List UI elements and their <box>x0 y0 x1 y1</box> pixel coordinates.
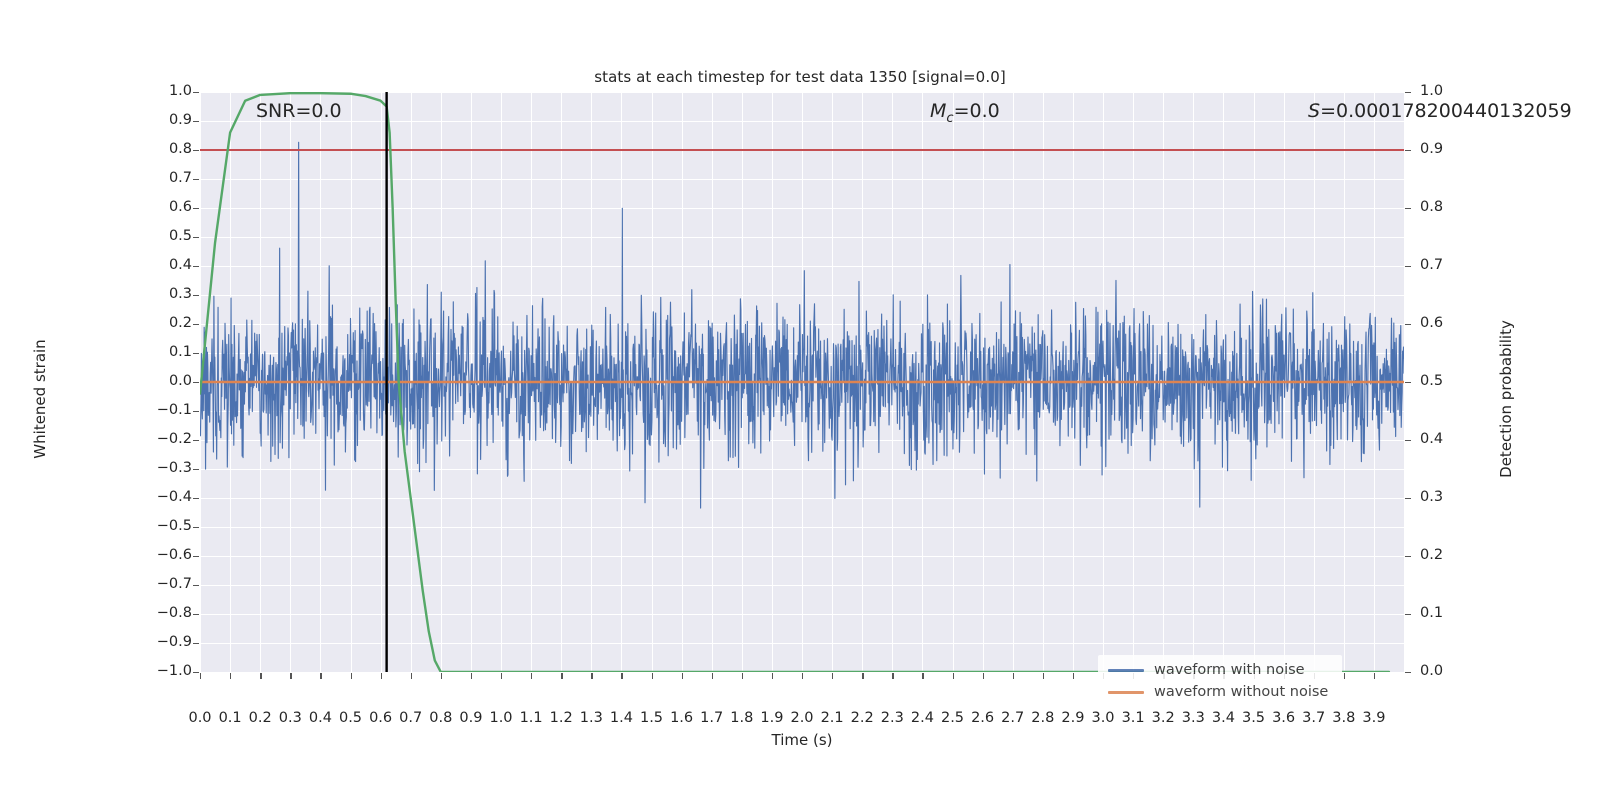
legend[interactable]: waveform with noisewaveform without nois… <box>1098 655 1342 707</box>
y-tick-mark-left <box>193 411 199 412</box>
y-tick-mark-right <box>1405 382 1411 383</box>
y-tick-label-left: −0.7 <box>72 576 192 592</box>
x-tick-mark <box>381 673 382 679</box>
y-tick-label-left: −0.9 <box>72 634 192 650</box>
x-tick-mark <box>320 673 321 679</box>
y-tick-mark-right <box>1405 498 1411 499</box>
y-tick-mark-left <box>193 585 199 586</box>
annotation-chirp-mass-symbol: M <box>930 100 946 122</box>
x-tick-mark <box>1043 673 1044 679</box>
y-tick-label-left: 0.6 <box>72 199 192 215</box>
y-tick-label-right: 0.3 <box>1420 489 1540 505</box>
y-tick-label-left: 0.2 <box>72 315 192 331</box>
y-tick-mark-left <box>193 469 199 470</box>
x-tick-mark <box>772 673 773 679</box>
y-tick-label-right: 0.8 <box>1420 199 1540 215</box>
x-tick-mark <box>922 673 923 679</box>
legend-label: waveform with noise <box>1154 662 1305 678</box>
x-tick-mark <box>1344 673 1345 679</box>
y-tick-mark-left <box>193 527 199 528</box>
y-axis-label-left: Whitened strain <box>31 279 49 519</box>
y-tick-mark-left <box>193 440 199 441</box>
x-tick-mark <box>591 673 592 679</box>
y-tick-mark-left <box>193 121 199 122</box>
y-tick-mark-left <box>193 150 199 151</box>
plot-area[interactable] <box>200 92 1404 672</box>
y-tick-label-left: 1.0 <box>72 83 192 99</box>
y-tick-label-right: 0.7 <box>1420 257 1540 273</box>
x-tick-mark <box>1374 673 1375 679</box>
legend-item[interactable]: waveform with noise <box>1104 659 1336 681</box>
y-tick-label-left: −0.1 <box>72 402 192 418</box>
y-tick-mark-right <box>1405 556 1411 557</box>
y-tick-label-right: 0.5 <box>1420 373 1540 389</box>
x-tick-mark <box>862 673 863 679</box>
y-tick-mark-left <box>193 295 199 296</box>
x-tick-mark <box>652 673 653 679</box>
legend-label: waveform without noise <box>1154 684 1328 700</box>
y-tick-mark-right <box>1405 672 1411 673</box>
series-waveform-with-noise <box>200 142 1404 508</box>
annotation-chirp-mass-value: =0.0 <box>954 100 1000 122</box>
y-tick-mark-left <box>193 208 199 209</box>
y-tick-mark-left <box>193 643 199 644</box>
y-tick-mark-left <box>193 324 199 325</box>
y-tick-label-left: −0.6 <box>72 547 192 563</box>
y-tick-label-left: 0.4 <box>72 257 192 273</box>
y-tick-mark-left <box>193 498 199 499</box>
y-tick-label-left: −0.4 <box>72 489 192 505</box>
y-tick-mark-right <box>1405 266 1411 267</box>
y-tick-label-left: 0.9 <box>72 112 192 128</box>
y-tick-mark-left <box>193 92 199 93</box>
y-tick-label-left: −0.8 <box>72 605 192 621</box>
y-tick-label-left: −0.3 <box>72 460 192 476</box>
y-tick-label-left: −0.5 <box>72 518 192 534</box>
x-tick-mark <box>712 673 713 679</box>
y-axis-label-right: Detection probability <box>1497 279 1515 519</box>
y-tick-label-right: 0.1 <box>1420 605 1540 621</box>
x-tick-mark <box>802 673 803 679</box>
y-tick-label-left: −1.0 <box>72 663 192 679</box>
x-tick-mark <box>832 673 833 679</box>
annotation-snr: SNR=0.0 <box>256 100 342 122</box>
y-tick-mark-left <box>193 556 199 557</box>
x-tick-mark <box>561 673 562 679</box>
x-tick-mark <box>290 673 291 679</box>
x-tick-mark <box>260 673 261 679</box>
y-tick-mark-right <box>1405 92 1411 93</box>
y-tick-mark-left <box>193 266 199 267</box>
x-tick-mark <box>953 673 954 679</box>
x-tick-mark <box>501 673 502 679</box>
x-tick-mark <box>742 673 743 679</box>
x-tick-mark <box>892 673 893 679</box>
y-tick-mark-right <box>1405 208 1411 209</box>
x-tick-mark <box>200 673 201 679</box>
y-tick-mark-right <box>1405 614 1411 615</box>
y-tick-mark-left <box>193 237 199 238</box>
x-tick-mark <box>531 673 532 679</box>
y-tick-label-right: 0.9 <box>1420 141 1540 157</box>
y-tick-label-left: −0.2 <box>72 431 192 447</box>
y-tick-label-left: 0.1 <box>72 344 192 360</box>
y-tick-mark-left <box>193 672 199 673</box>
series-layer <box>200 92 1404 672</box>
x-tick-mark <box>621 673 622 679</box>
y-tick-label-right: 0.6 <box>1420 315 1540 331</box>
y-tick-label-left: 0.0 <box>72 373 192 389</box>
x-tick-mark <box>411 673 412 679</box>
annotation-score-value: =0.000178200440132059 <box>1320 100 1572 122</box>
y-tick-label-left: 0.5 <box>72 228 192 244</box>
annotation-score: S=0.000178200440132059 <box>1308 100 1572 122</box>
y-tick-label-right: 0.0 <box>1420 663 1540 679</box>
legend-color-swatch <box>1108 691 1144 694</box>
y-tick-label-left: 0.8 <box>72 141 192 157</box>
y-tick-label-right: 1.0 <box>1420 83 1540 99</box>
x-tick-mark <box>1073 673 1074 679</box>
y-tick-mark-right <box>1405 324 1411 325</box>
chart-title: stats at each timestep for test data 135… <box>0 68 1600 86</box>
figure-canvas: stats at each timestep for test data 135… <box>0 0 1600 800</box>
y-tick-mark-left <box>193 382 199 383</box>
y-tick-mark-right <box>1405 440 1411 441</box>
x-axis-label: Time (s) <box>200 731 1404 749</box>
y-tick-label-left: 0.3 <box>72 286 192 302</box>
x-tick-mark <box>471 673 472 679</box>
y-tick-label-left: 0.7 <box>72 170 192 186</box>
y-tick-mark-right <box>1405 150 1411 151</box>
x-tick-label: 3.9 <box>1344 710 1404 726</box>
x-tick-mark <box>682 673 683 679</box>
y-tick-mark-left <box>193 353 199 354</box>
x-tick-mark <box>441 673 442 679</box>
annotation-chirp-mass-subscript: c <box>946 111 953 126</box>
x-tick-mark <box>983 673 984 679</box>
x-tick-mark <box>230 673 231 679</box>
y-tick-label-right: 0.4 <box>1420 431 1540 447</box>
x-tick-mark <box>351 673 352 679</box>
y-tick-label-right: 0.2 <box>1420 547 1540 563</box>
annotation-score-symbol: S <box>1308 100 1320 122</box>
legend-item[interactable]: waveform without noise <box>1104 681 1336 703</box>
y-tick-mark-left <box>193 179 199 180</box>
x-tick-mark <box>1013 673 1014 679</box>
legend-color-swatch <box>1108 669 1144 672</box>
y-tick-mark-left <box>193 614 199 615</box>
annotation-chirp-mass: Mc=0.0 <box>930 100 1000 126</box>
